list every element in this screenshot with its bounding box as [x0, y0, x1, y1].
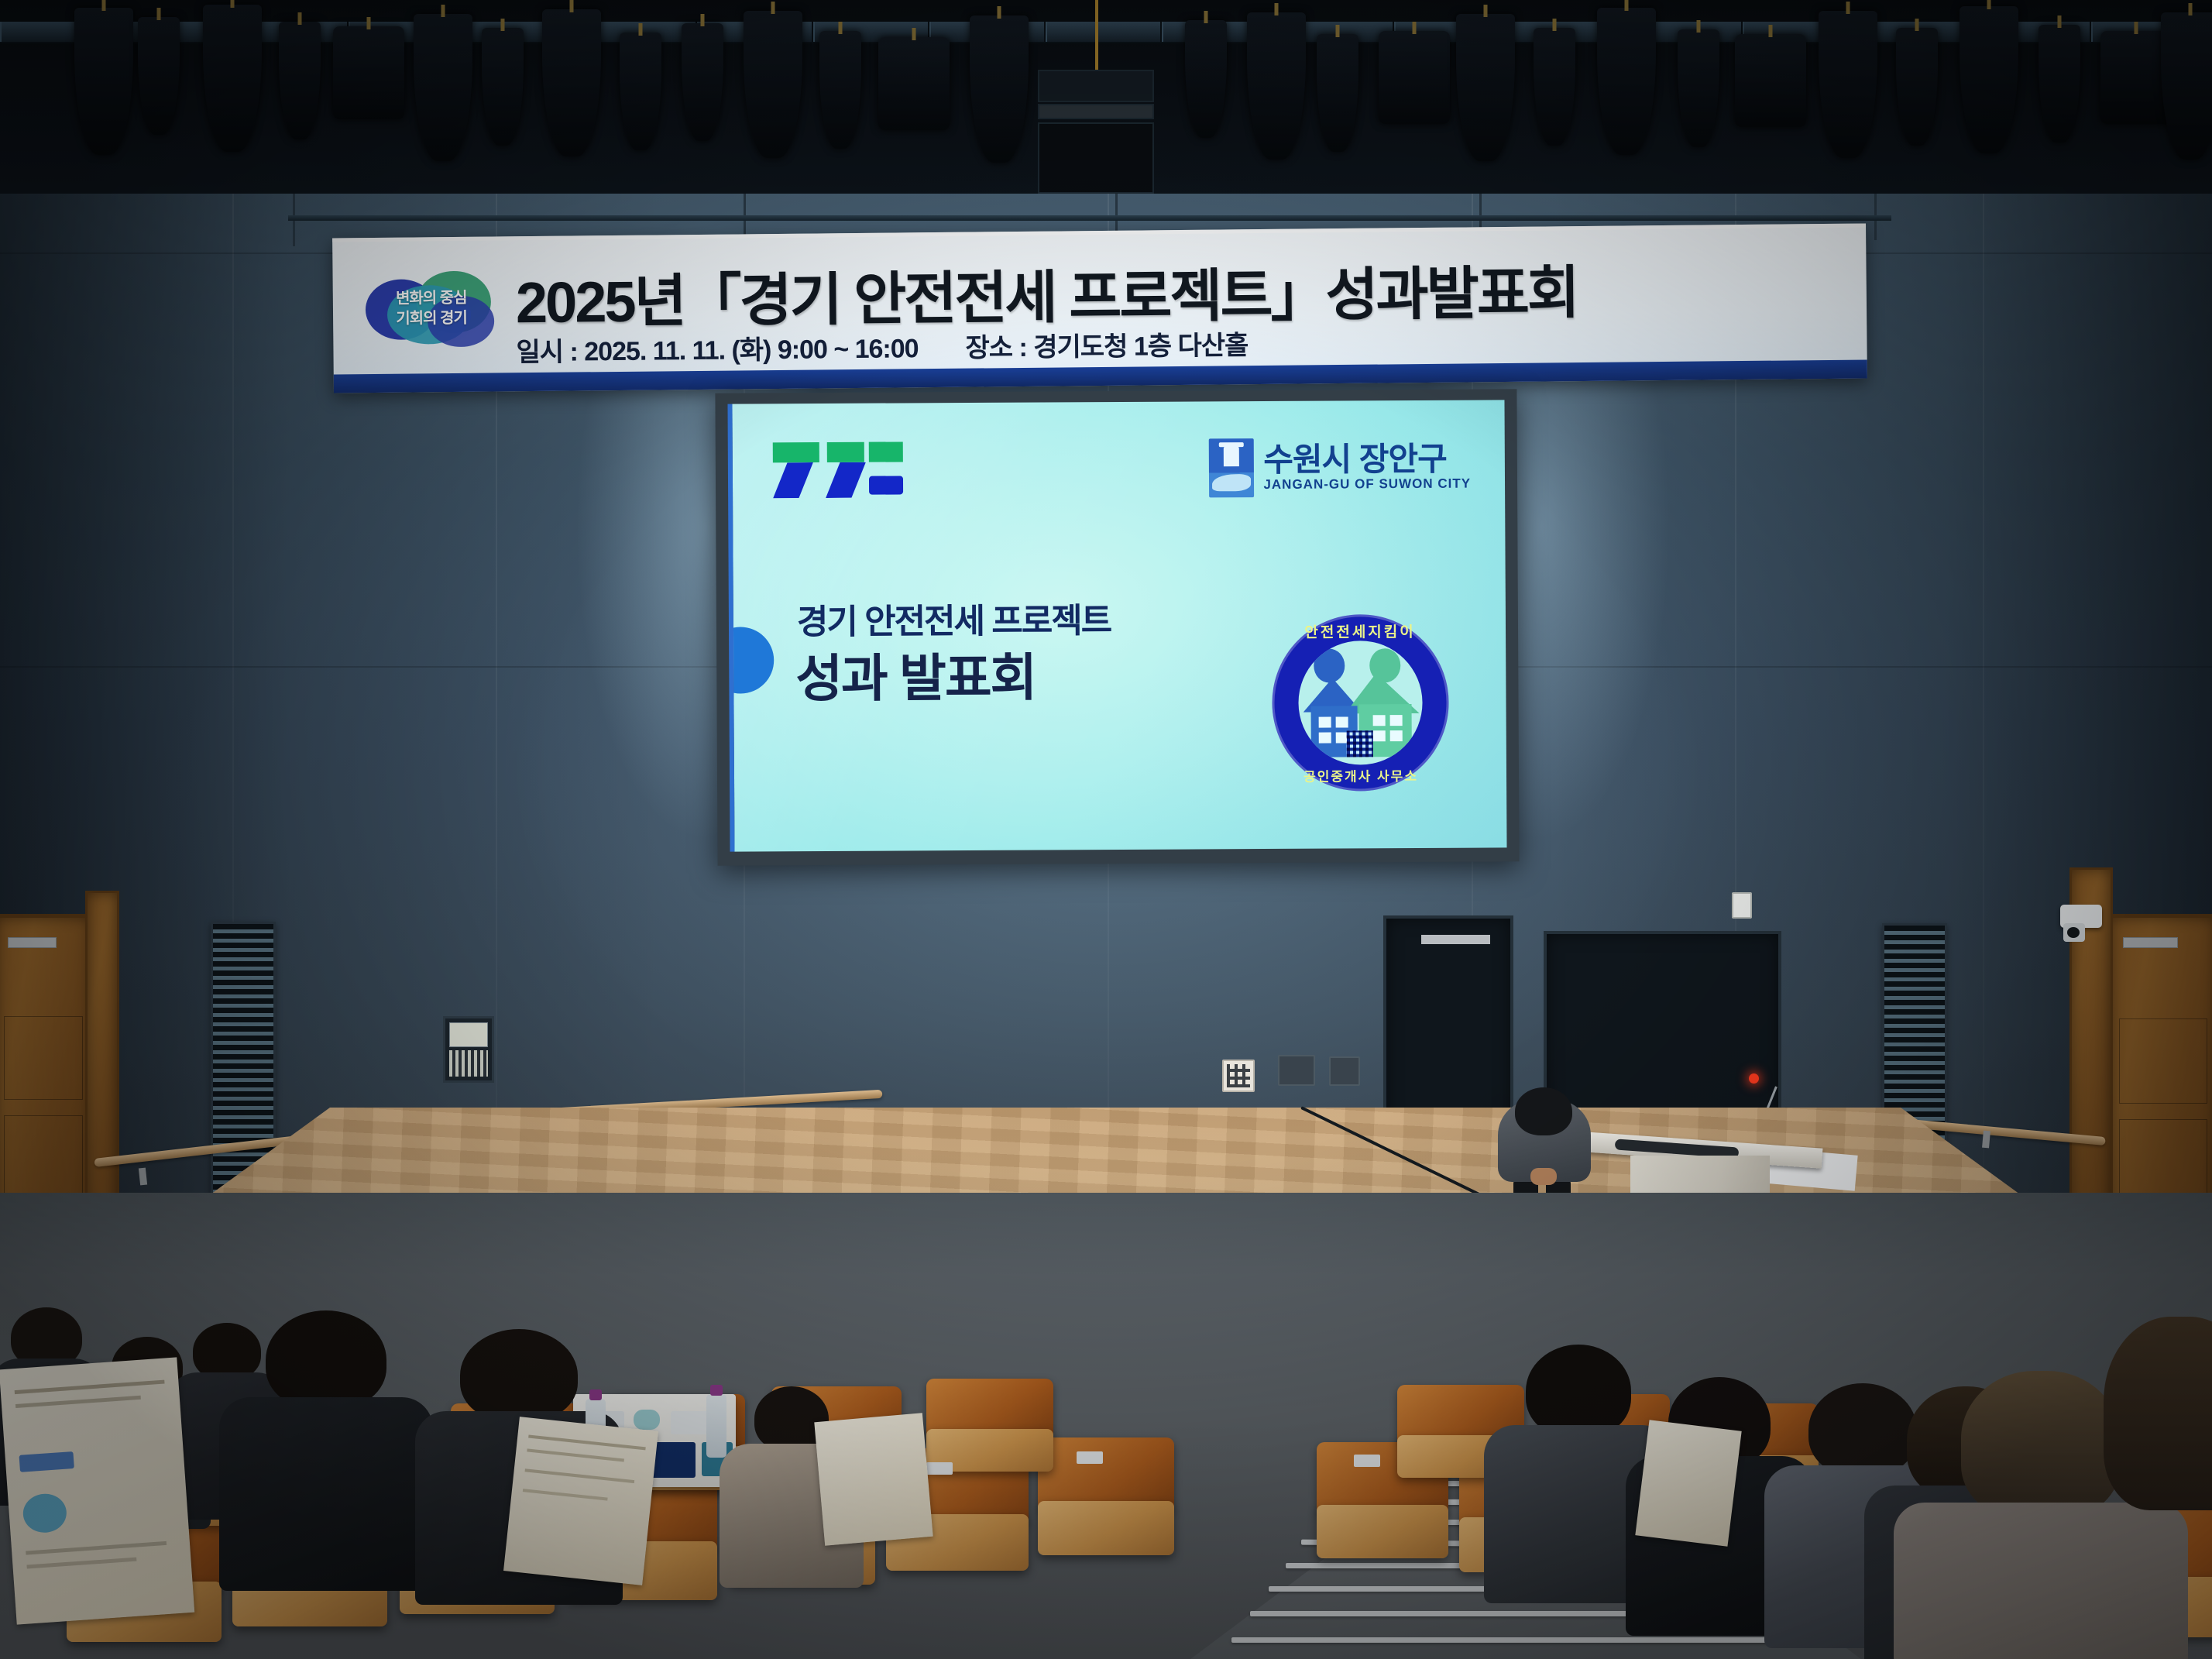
emblem-qr-code	[1347, 730, 1373, 757]
stage-spotlight-icon	[1678, 29, 1719, 147]
banner-datetime: 일시 : 2025. 11. 11. (화) 9:00 ~ 16:00	[516, 334, 918, 367]
stage-spotlight-icon	[970, 15, 1029, 163]
left-wall-control-panel[interactable]	[443, 1016, 494, 1083]
stage-spotlight-icon	[819, 31, 861, 149]
list-item[interactable]	[926, 1379, 1053, 1472]
stage-spotlight-icon	[1379, 31, 1450, 124]
audience-handout	[503, 1417, 658, 1585]
audience-member	[2083, 1317, 2212, 1611]
audience-handout	[1635, 1420, 1741, 1547]
audience-member	[237, 1310, 415, 1566]
water-bottle	[706, 1394, 726, 1458]
projection-screen-frame: 수원시 장안구 JANGAN-GU OF SUWON CITY 경기 안전전세 …	[715, 389, 1519, 865]
center-left-outlet-plate[interactable]	[1222, 1060, 1255, 1092]
auditorium-photo: 변화의 중심기회의 경기 2025년「경기 안전전세 프로젝트」성과발표회 일시…	[0, 0, 2212, 1659]
stage-spotlight-icon	[620, 33, 661, 150]
gyeonggi-badge-text: 변화의 중심기회의 경기	[366, 287, 497, 329]
banner-venue: 장소 : 경기도청 1층 다산홀	[965, 331, 1248, 363]
stage-spotlight-icon	[2039, 25, 2080, 143]
stage-spotlight-icon	[682, 23, 723, 141]
stage-spotlight-icon	[744, 11, 802, 158]
center-wall-plate	[1278, 1055, 1315, 1086]
stage-spotlight-icon	[1456, 14, 1515, 161]
gyeonggi-slogan-badge: 변화의 중심기회의 경기	[365, 267, 497, 349]
stage-spotlight-icon	[482, 28, 524, 146]
emblem-house-figure	[1298, 641, 1423, 765]
projector-speaker-cluster	[1038, 31, 1154, 194]
stage-spotlight-icon	[1960, 6, 2018, 153]
stage-spotlight-icon	[542, 9, 601, 156]
safe-jeonse-emblem: 안전전세지킴이 공인중개사 사무소	[1272, 614, 1449, 792]
stage-spotlight-icon	[2161, 12, 2212, 160]
gyeonggi-gg-logo-icon	[773, 442, 889, 502]
audience-handout	[814, 1413, 933, 1546]
ceiling-security-camera-icon	[2060, 905, 2104, 943]
stage-spotlight-icon	[1534, 28, 1575, 146]
stage-spotlight-icon	[138, 17, 180, 135]
emblem-bottom-text: 공인중개사 사무소	[1273, 765, 1449, 785]
stage-spotlight-icon	[1247, 12, 1306, 160]
emblem-top-text: 안전전세지킴이	[1272, 620, 1448, 642]
stage-spotlight-icon	[414, 14, 472, 161]
jangan-gu-english-label: JANGAN-GU OF SUWON CITY	[1263, 476, 1471, 493]
stage-spotlight-icon	[1185, 20, 1227, 138]
jangan-gu-logo: 수원시 장안구 JANGAN-GU OF SUWON CITY	[1209, 434, 1471, 501]
slide-title: 성과 발표회	[795, 637, 1036, 713]
center-wall-plate-2	[1329, 1056, 1360, 1086]
stage-spotlight-icon	[1819, 11, 1877, 158]
jangan-gu-korean-label: 수원시 장안구	[1263, 442, 1471, 477]
stage-spotlight-icon	[1597, 8, 1656, 155]
ceiling	[0, 0, 2212, 194]
stage-spotlight-icon	[1317, 34, 1358, 152]
jangan-gu-mark-icon	[1209, 438, 1254, 497]
stage-spotlight-icon	[279, 22, 321, 139]
stage-spotlight-icon	[1896, 28, 1938, 146]
stage-spotlight-icon	[1735, 34, 1806, 127]
wall-speaker-bracket	[1732, 892, 1752, 919]
stage-spotlight-icon	[203, 5, 262, 152]
event-banner: 변화의 중심기회의 경기 2025년「경기 안전전세 프로젝트」성과발표회 일시…	[332, 224, 1867, 393]
stage-spotlight-icon	[878, 37, 950, 130]
mic-status-led	[1749, 1073, 1759, 1084]
stage-spotlight-icon	[74, 8, 133, 155]
projection-screen: 수원시 장안구 JANGAN-GU OF SUWON CITY 경기 안전전세 …	[727, 400, 1506, 851]
audience-handout	[0, 1357, 194, 1624]
list-item[interactable]	[1038, 1437, 1174, 1555]
stage-spotlight-icon	[333, 26, 404, 119]
